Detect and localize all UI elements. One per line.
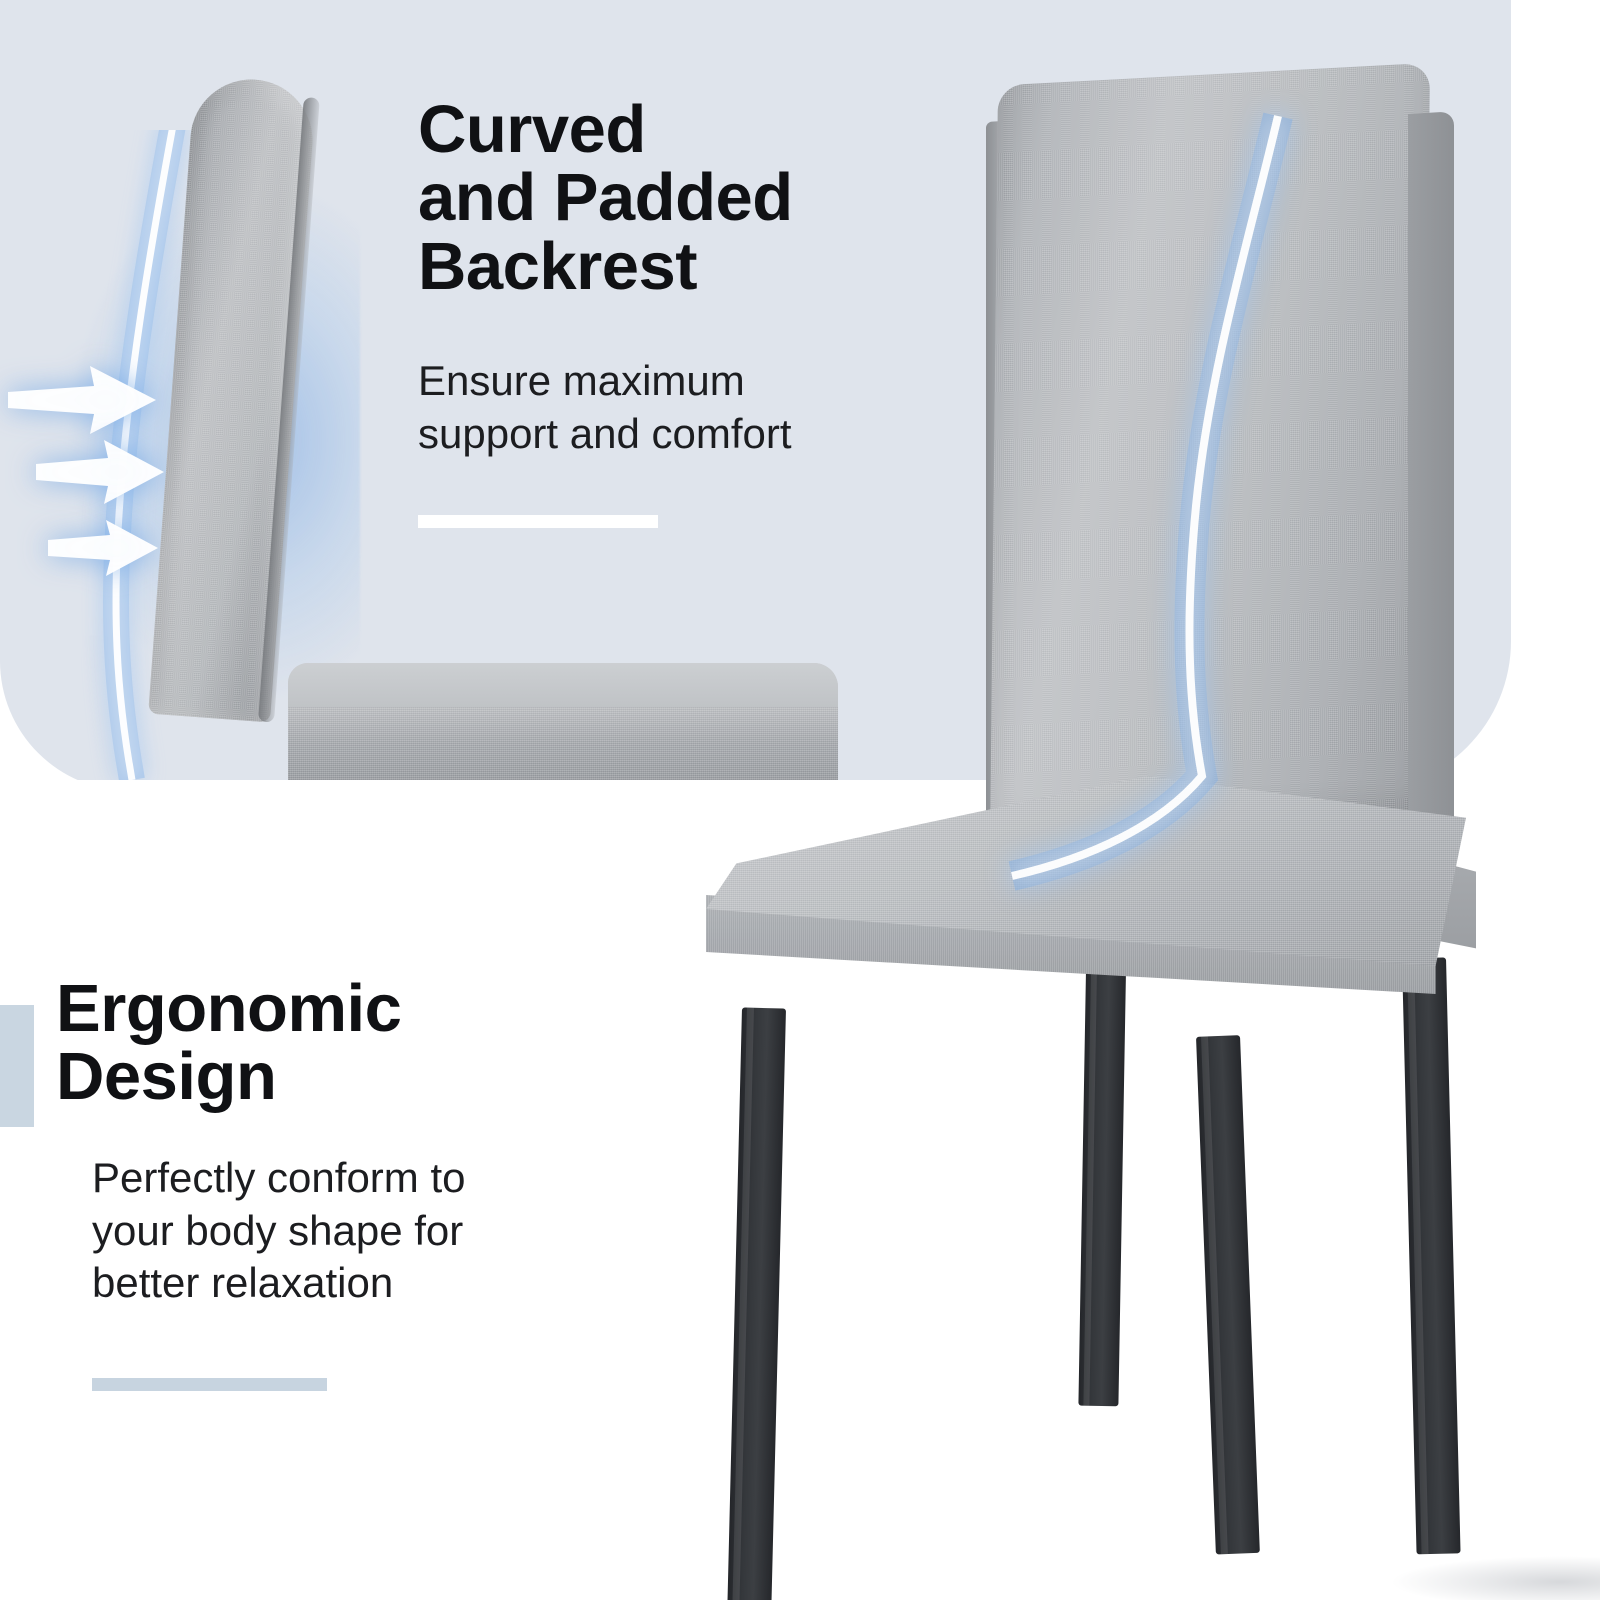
main-chair	[690, 86, 1520, 1566]
feature-two-divider	[92, 1378, 327, 1391]
infographic-canvas: Curved and Padded Backrest Ensure maximu…	[0, 0, 1600, 1600]
chair-leg-back-left	[1078, 970, 1126, 1407]
chair-leg-front-right	[1196, 1035, 1260, 1554]
floor-shadow	[1390, 1556, 1600, 1600]
backrest-side-wrap	[1408, 111, 1454, 856]
airflow-arrow-icon	[48, 518, 160, 580]
feature-two-accent-bar	[0, 1005, 34, 1127]
feature-one-divider	[418, 515, 658, 528]
feature-two-subtext: Perfectly conform to your body shape for…	[92, 1152, 465, 1310]
airflow-arrow-icon	[8, 364, 158, 438]
chair-backrest	[990, 63, 1430, 846]
feature-two-headline: Ergonomic Design	[56, 975, 401, 1112]
airflow-arrow-icon	[36, 438, 166, 508]
chair-leg-front-left	[727, 1007, 786, 1600]
chair-leg-back-right	[1402, 957, 1461, 1554]
